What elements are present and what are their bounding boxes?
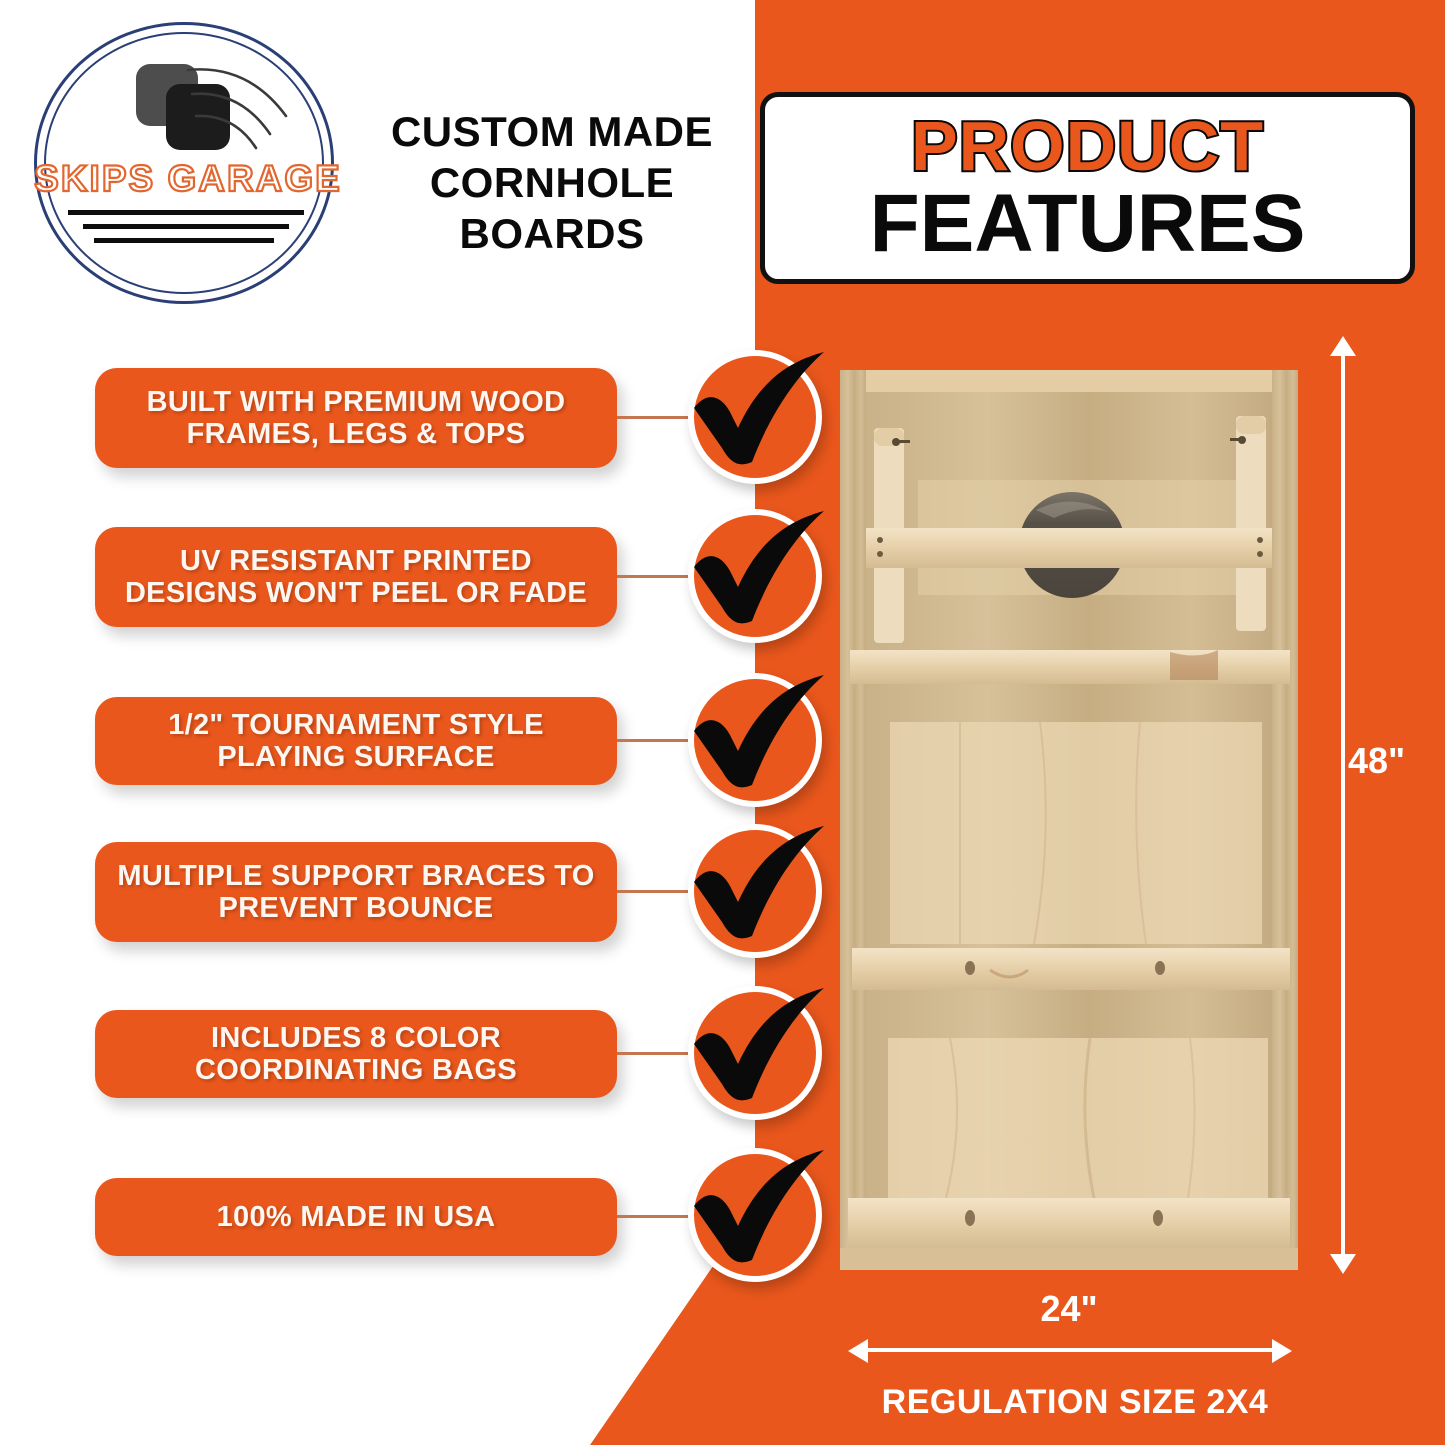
feature-pill[interactable]: MULTIPLE SUPPORT BRACES TO PREVENT BOUNC… [95, 842, 617, 942]
check-badge [688, 673, 822, 807]
height-dimension-line [1341, 345, 1345, 1260]
feature-pill[interactable]: BUILT WITH PREMIUM WOOD FRAMES, LEGS & T… [95, 368, 617, 468]
feature-row: 100% MADE IN USA [0, 1178, 850, 1318]
check-icon [676, 336, 846, 506]
feature-row: UV RESISTANT PRINTED DESIGNS WON'T PEEL … [0, 527, 850, 667]
product-photo-cornhole-board-underside [840, 370, 1298, 1270]
banner-word-features: FEATURES [870, 183, 1306, 265]
logo-rule-3 [94, 238, 274, 243]
logo-rule-2 [83, 224, 289, 229]
height-dimension-label: 48" [1348, 740, 1405, 782]
arrow-right-icon [1270, 1339, 1292, 1363]
arrow-left-icon [848, 1339, 870, 1363]
feature-row: BUILT WITH PREMIUM WOOD FRAMES, LEGS & T… [0, 368, 850, 508]
check-icon [676, 495, 846, 665]
feature-pill[interactable]: 100% MADE IN USA [95, 1178, 617, 1256]
logo-wordmark: SKIPS GARAGE [28, 158, 348, 200]
brand-logo: SKIPS GARAGE [28, 18, 348, 308]
check-badge [688, 350, 822, 484]
banner-word-product: PRODUCT [911, 111, 1264, 181]
arrow-down-icon [1330, 1252, 1356, 1274]
check-icon [676, 659, 846, 829]
check-badge [688, 1148, 822, 1282]
feature-pill[interactable]: UV RESISTANT PRINTED DESIGNS WON'T PEEL … [95, 527, 617, 627]
page-title: CUSTOM MADE CORNHOLE BOARDS [352, 106, 752, 260]
check-badge [688, 509, 822, 643]
regulation-size-text: REGULATION SIZE 2X4 [840, 1383, 1310, 1422]
product-features-banner: PRODUCT FEATURES [760, 92, 1415, 284]
width-dimension-label: 24" [858, 1288, 1280, 1330]
feature-row: INCLUDES 8 COLOR COORDINATING BAGS [0, 1010, 850, 1150]
logo-rule-1 [68, 210, 304, 215]
arrow-up-icon [1330, 336, 1356, 358]
page-title-line-2: CORNHOLE [352, 157, 752, 208]
width-dimension-line [858, 1348, 1280, 1352]
check-icon [676, 1134, 846, 1304]
motion-arcs-icon [178, 54, 298, 154]
check-badge [688, 824, 822, 958]
feature-pill[interactable]: 1/2" TOURNAMENT STYLE PLAYING SURFACE [95, 697, 617, 785]
page-title-line-1: CUSTOM MADE [352, 106, 752, 157]
check-icon [676, 810, 846, 980]
feature-pill[interactable]: INCLUDES 8 COLOR COORDINATING BAGS [95, 1010, 617, 1098]
page-title-line-3: BOARDS [352, 208, 752, 259]
check-badge [688, 986, 822, 1120]
feature-row: MULTIPLE SUPPORT BRACES TO PREVENT BOUNC… [0, 842, 850, 982]
check-icon [676, 972, 846, 1142]
